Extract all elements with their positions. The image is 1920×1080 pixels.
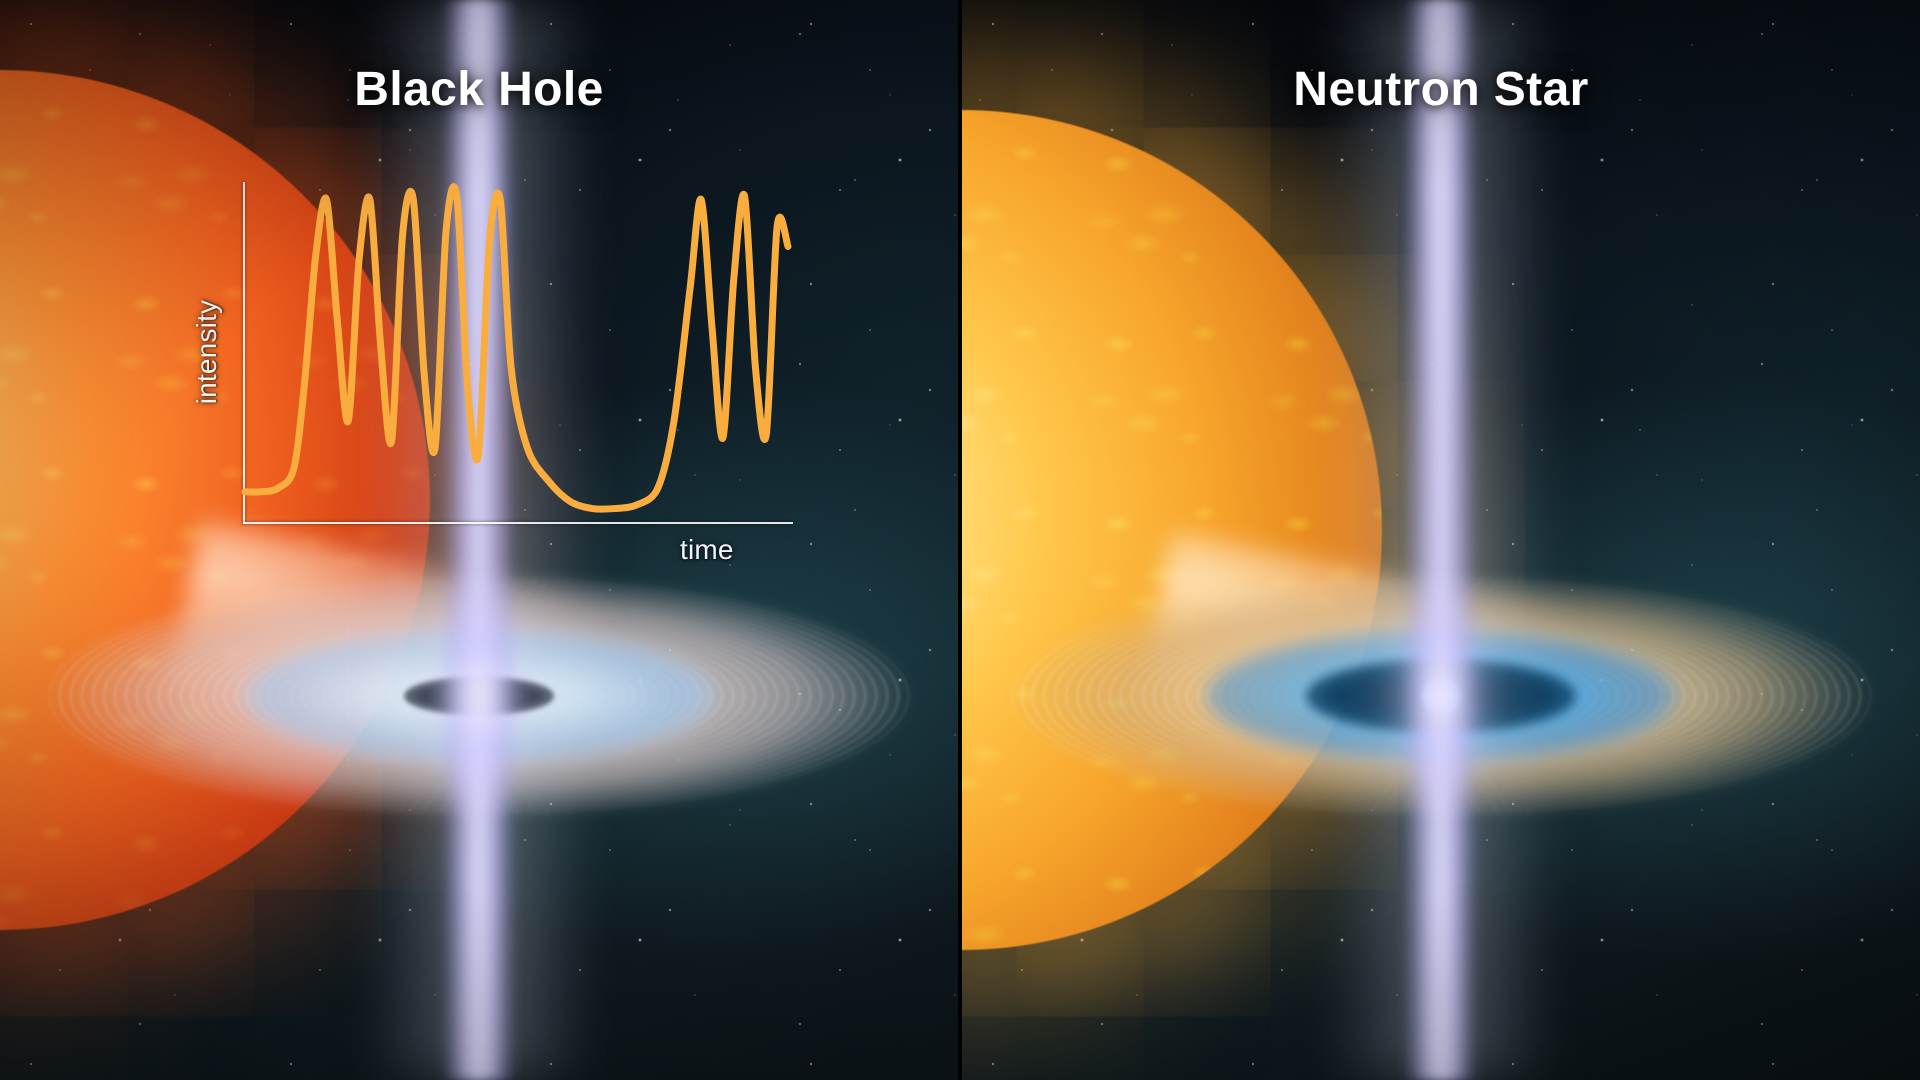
lightcurve-svg-black-hole — [188, 168, 808, 568]
panel-black-hole: intensity time Black Hole — [0, 0, 958, 1080]
panel-neutron-star: intensity time Neutron Star — [962, 0, 1920, 1080]
figure-canvas: intensity time Black Hole — [0, 0, 1920, 1080]
panel-title-black-hole: Black Hole — [0, 62, 958, 117]
neutron-star-core — [1421, 678, 1461, 714]
lightcurve-path-black-hole — [245, 187, 788, 509]
black-hole-core — [466, 685, 492, 707]
lightcurve-chart-black-hole: intensity time — [188, 168, 808, 568]
panel-title-neutron-star: Neutron Star — [962, 62, 1920, 117]
panel-divider — [958, 0, 962, 1080]
